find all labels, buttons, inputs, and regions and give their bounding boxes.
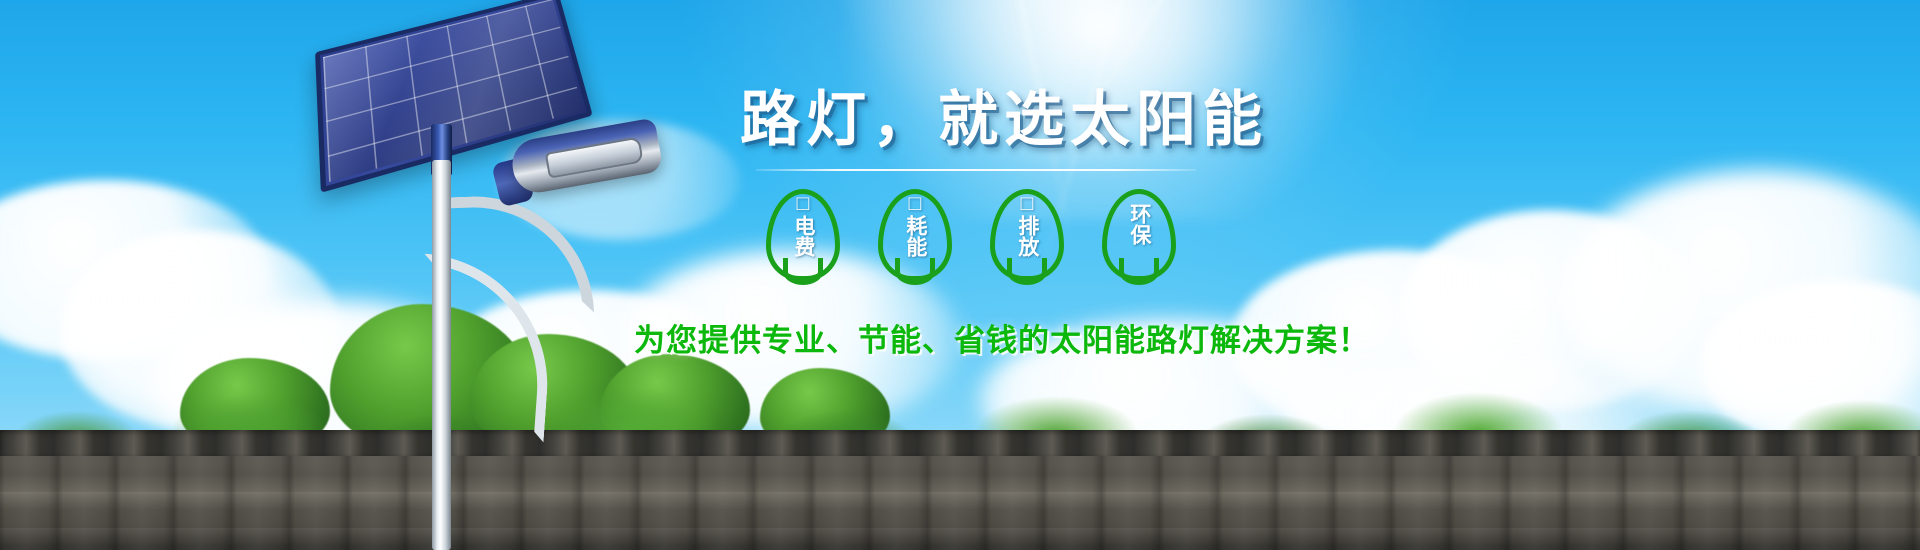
zero-mark-icon: □ xyxy=(797,193,810,214)
wall-cap xyxy=(0,430,1920,456)
hero-banner: 路灯，就选太阳能 □ 电费 □ 耗能 □ xyxy=(0,0,1920,550)
lamp-pole xyxy=(432,160,451,550)
wall-texture xyxy=(0,456,1920,550)
feature-badge-label: 耗能 xyxy=(904,215,926,257)
headline: 路灯，就选太阳能 xyxy=(740,88,1440,153)
feature-badge-content: □ 耗能 xyxy=(878,189,952,281)
banner-copy: 路灯，就选太阳能 □ 电费 □ 耗能 □ xyxy=(740,88,1440,360)
feature-badge-dianfei: □ 电费 xyxy=(766,189,840,281)
headline-divider xyxy=(756,169,1196,171)
feature-badge-haoneng: □ 耗能 xyxy=(878,189,952,281)
tile-wall xyxy=(0,430,1920,550)
feature-badge-huanbao: 环保 xyxy=(1102,189,1176,281)
feature-badge-label: 电费 xyxy=(792,215,814,257)
feature-badge-content: □ 排放 xyxy=(990,189,1064,281)
feature-badge-content: 环保 xyxy=(1102,189,1176,281)
feature-badge-label: 环保 xyxy=(1128,203,1150,245)
feature-badge-paifang: □ 排放 xyxy=(990,189,1064,281)
feature-badge-label: 排放 xyxy=(1016,215,1038,257)
feature-badge-list: □ 电费 □ 耗能 □ 排放 xyxy=(766,189,1440,281)
solar-street-lamp xyxy=(300,0,760,550)
lamp-lens xyxy=(545,136,644,178)
zero-mark-icon: □ xyxy=(1021,193,1034,214)
zero-mark-icon: □ xyxy=(909,193,922,214)
subtitle: 为您提供专业、节能、省钱的太阳能路灯解决方案！ xyxy=(634,315,1440,360)
feature-badge-content: □ 电费 xyxy=(766,189,840,281)
